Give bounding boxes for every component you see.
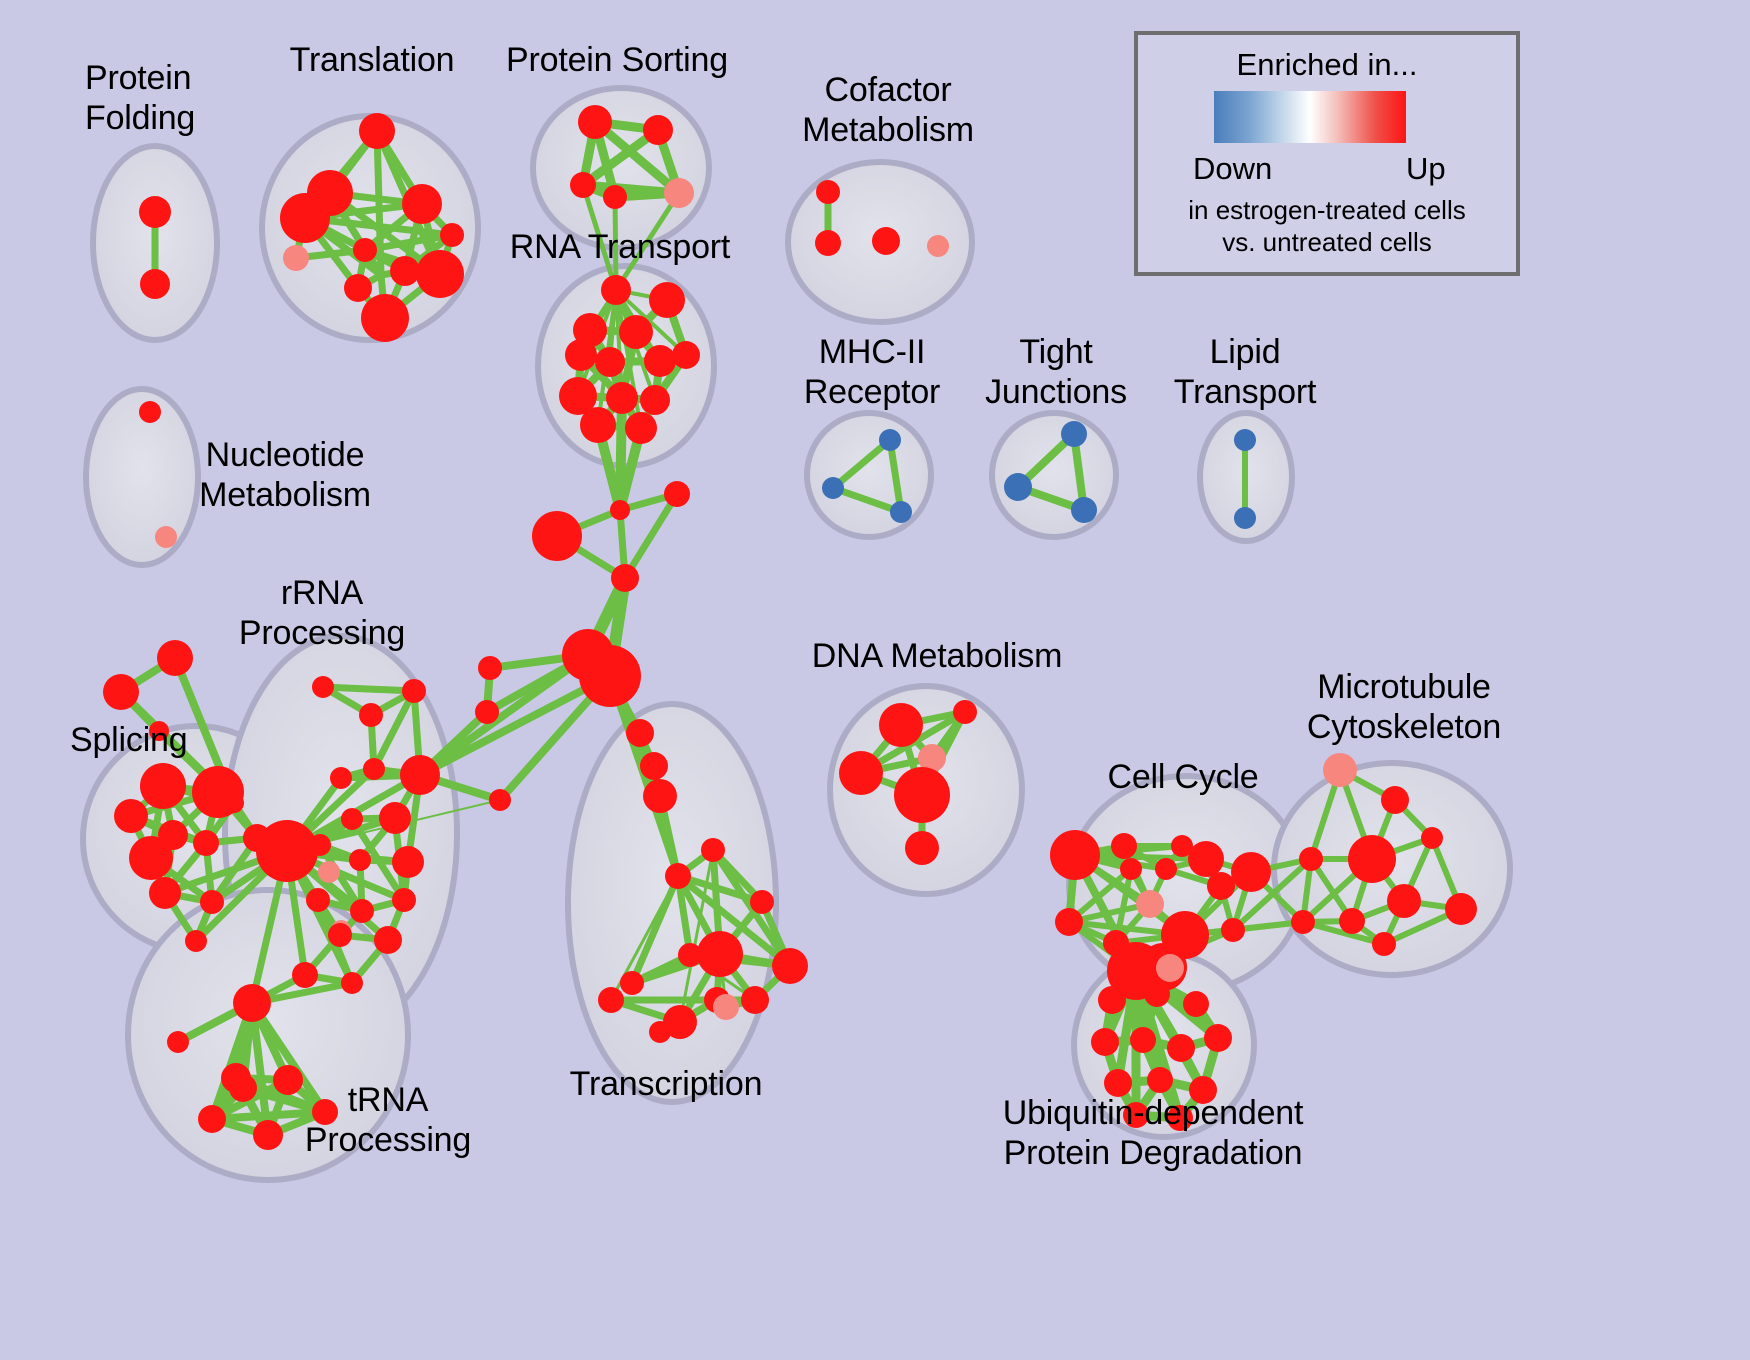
node-up: [233, 984, 271, 1022]
node-up: [1372, 932, 1396, 956]
node-up: [772, 948, 808, 984]
node-up: [1120, 858, 1142, 880]
node-down: [890, 501, 912, 523]
node-up: [1231, 852, 1271, 892]
node-up: [363, 758, 385, 780]
node-up: [330, 767, 352, 789]
node-up: [532, 511, 582, 561]
node-up-mid: [1323, 753, 1357, 787]
node-up: [603, 185, 627, 209]
node-up: [1381, 786, 1409, 814]
node-up: [478, 656, 502, 680]
node-up: [390, 256, 420, 286]
node-up: [350, 899, 374, 923]
legend-title: Enriched in...: [1138, 47, 1516, 83]
node-up: [402, 679, 426, 703]
node-up: [273, 1065, 303, 1095]
node-up: [625, 412, 657, 444]
node-up: [619, 315, 653, 349]
node-up: [1339, 908, 1365, 934]
node-up: [598, 987, 624, 1013]
node-up: [816, 180, 840, 204]
node-up: [664, 481, 690, 507]
node-up: [253, 1120, 283, 1150]
node-up: [139, 196, 171, 228]
node-up: [953, 700, 977, 724]
node-up-mid: [1156, 954, 1184, 982]
node-up: [361, 294, 409, 342]
node-up: [640, 385, 670, 415]
node-down: [1234, 429, 1256, 451]
node-up: [606, 382, 638, 414]
node-up: [610, 500, 630, 520]
node-up-mid: [713, 994, 739, 1020]
node-up: [1055, 908, 1083, 936]
legend-high-label: Up: [1406, 151, 1446, 187]
node-up: [872, 227, 900, 255]
node-up: [139, 401, 161, 423]
node-up: [312, 676, 334, 698]
node-up: [665, 863, 691, 889]
node-up: [374, 926, 402, 954]
node-up: [103, 674, 139, 710]
edge: [420, 655, 588, 775]
node-up: [114, 799, 148, 833]
node-up: [341, 972, 363, 994]
node-up: [649, 282, 685, 318]
node-up-mid: [664, 178, 694, 208]
node-up: [140, 269, 170, 299]
node-up: [416, 250, 464, 298]
hull-protein-sorting: [533, 88, 709, 248]
node-up: [697, 931, 743, 977]
node-up: [1189, 1076, 1217, 1104]
node-up: [200, 890, 224, 914]
node-up: [392, 846, 424, 878]
node-up: [475, 700, 499, 724]
node-up-mid: [318, 861, 340, 883]
node-up: [140, 763, 186, 809]
node-up: [1445, 893, 1477, 925]
node-up: [224, 793, 244, 813]
node-up: [1183, 991, 1209, 1017]
node-up: [312, 1099, 338, 1125]
node-up: [344, 274, 372, 302]
node-up: [1130, 1027, 1156, 1053]
node-up: [402, 184, 442, 224]
node-up: [1387, 884, 1421, 918]
node-up: [349, 849, 371, 871]
node-up: [580, 407, 616, 443]
node-up: [328, 923, 352, 947]
node-up-mid: [1136, 890, 1164, 918]
node-up: [601, 275, 631, 305]
node-up: [1188, 841, 1224, 877]
node-up: [229, 1074, 257, 1102]
node-up: [1144, 981, 1170, 1007]
node-up: [815, 230, 841, 256]
node-up: [1299, 847, 1323, 871]
node-up: [1348, 835, 1396, 883]
node-down: [1004, 473, 1032, 501]
node-up: [359, 703, 383, 727]
node-up: [129, 836, 173, 880]
legend-caption-line1: in estrogen-treated cells: [1138, 195, 1516, 226]
node-up: [341, 808, 363, 830]
node-up: [640, 752, 668, 780]
node-up: [1050, 830, 1100, 880]
node-up: [400, 755, 440, 795]
enrichment-map-figure: Protein Folding Translation Protein Sort…: [0, 0, 1750, 1360]
node-up: [1104, 1069, 1132, 1097]
node-up: [167, 1031, 189, 1053]
node-up: [1221, 918, 1245, 942]
node-up: [644, 345, 676, 377]
node-up: [894, 767, 950, 823]
node-up: [649, 1021, 671, 1043]
node-up: [570, 172, 596, 198]
node-up: [750, 890, 774, 914]
node-up-mid: [927, 235, 949, 257]
node-up: [280, 193, 330, 243]
node-up: [672, 341, 700, 369]
node-up: [741, 986, 769, 1014]
node-down: [1071, 497, 1097, 523]
legend-panel: Enriched in... Down Up in estrogen-treat…: [1134, 31, 1520, 276]
node-down: [879, 429, 901, 451]
node-up: [595, 347, 625, 377]
node-up: [620, 971, 644, 995]
hull-mhc-ii-receptor: [807, 413, 931, 537]
node-up: [626, 719, 654, 747]
node-up: [392, 888, 416, 912]
node-up: [1155, 858, 1177, 880]
node-up: [578, 105, 612, 139]
node-up: [879, 703, 923, 747]
node-up: [489, 789, 511, 811]
node-up: [359, 113, 395, 149]
node-up: [565, 339, 597, 371]
node-up: [1123, 1102, 1149, 1128]
node-up: [1111, 833, 1137, 859]
node-up: [1167, 1105, 1193, 1131]
node-up: [198, 1105, 226, 1133]
node-up: [1091, 1028, 1119, 1056]
hull-tight-junctions: [992, 413, 1116, 537]
node-up: [157, 640, 193, 676]
node-up: [440, 223, 464, 247]
node-up: [1291, 910, 1315, 934]
node-up: [701, 838, 725, 862]
node-up: [379, 802, 411, 834]
node-up: [306, 888, 330, 912]
node-down: [1061, 421, 1087, 447]
node-up: [1204, 1024, 1232, 1052]
node-up: [579, 645, 641, 707]
node-up: [193, 830, 219, 856]
node-up: [1207, 872, 1235, 900]
legend-low-label: Down: [1193, 151, 1272, 187]
node-up: [643, 115, 673, 145]
node-up: [1421, 827, 1443, 849]
node-up: [149, 877, 181, 909]
node-up: [1098, 986, 1126, 1014]
node-up-mid: [155, 526, 177, 548]
node-up: [1147, 1067, 1173, 1093]
edge: [323, 687, 414, 691]
node-up: [839, 751, 883, 795]
node-up-mid: [283, 245, 309, 271]
legend-caption-line2: vs. untreated cells: [1138, 227, 1516, 258]
legend-colorbar: [1214, 91, 1406, 143]
node-up: [256, 820, 318, 882]
node-down: [1234, 507, 1256, 529]
node-up: [643, 779, 677, 813]
node-up: [149, 721, 169, 741]
node-up: [292, 962, 318, 988]
node-up: [353, 238, 377, 262]
edge: [420, 676, 610, 775]
node-down: [822, 477, 844, 499]
node-up: [905, 831, 939, 865]
node-up: [1167, 1034, 1195, 1062]
node-up: [185, 930, 207, 952]
node-up: [611, 564, 639, 592]
